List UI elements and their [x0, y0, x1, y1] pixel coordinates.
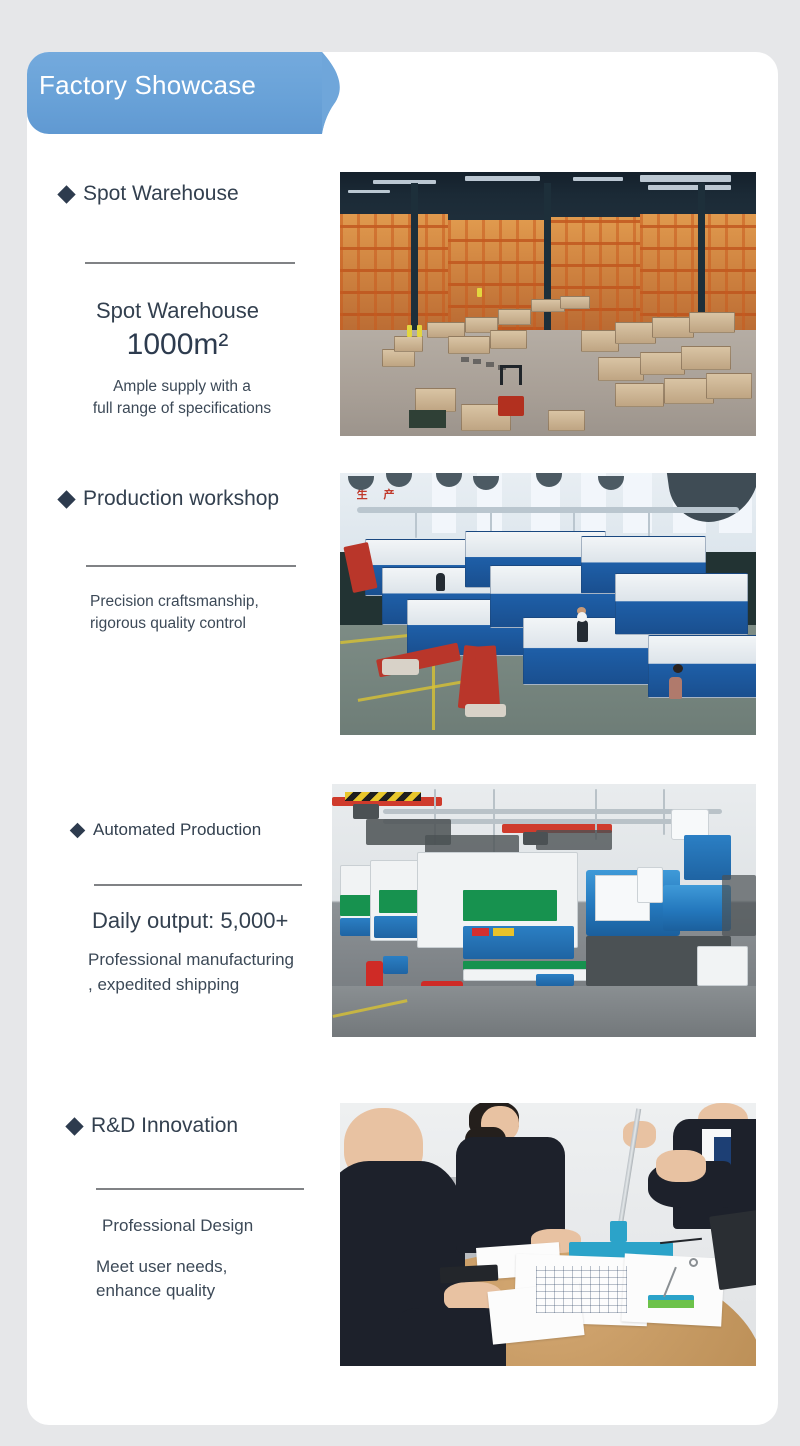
factory-showcase-page: Factory Showcase Spot Warehouse Spot War… — [0, 0, 800, 1446]
header-tab: Factory Showcase — [27, 52, 337, 134]
section-description: Ample supply with a full range of specif… — [60, 376, 304, 421]
section-divider — [96, 1188, 304, 1190]
section-metric: 1000m² — [60, 328, 295, 362]
section-heading: Spot Warehouse — [83, 182, 239, 206]
section-production-workshop-text: Production workshop Precision craftsmans… — [60, 487, 340, 636]
description-line: rigorous quality control — [90, 613, 320, 635]
section-heading-row: R&D Innovation — [68, 1114, 338, 1138]
section-divider — [85, 262, 295, 264]
section-heading-row: Production workshop — [60, 487, 340, 511]
description-line: Ample supply with a — [60, 376, 304, 398]
section-heading: Production workshop — [83, 487, 279, 511]
section-description: Professional manufacturing , expedited s… — [88, 948, 338, 997]
page-title: Factory Showcase — [39, 70, 256, 101]
production-workshop-photo: 生 产 — [340, 473, 756, 735]
description-line: Precision craftsmanship, — [90, 591, 320, 613]
section-headline: Daily output: 5,000+ — [92, 908, 340, 934]
section-description: Precision craftsmanship, rigorous qualit… — [90, 591, 320, 636]
description-line: Meet user needs, — [96, 1255, 326, 1280]
section-heading-row: Automated Production — [72, 820, 340, 840]
description-line: enhance quality — [96, 1279, 326, 1304]
spot-warehouse-photo — [340, 172, 756, 436]
section-spot-warehouse-text: Spot Warehouse Spot Warehouse 1000m² Amp… — [60, 182, 320, 421]
automated-production-photo — [332, 784, 756, 1037]
header-tab-curve — [322, 52, 382, 134]
section-rd-innovation-text: R&D Innovation Professional Design Meet … — [68, 1114, 338, 1304]
description-line: , expedited shipping — [88, 973, 338, 998]
section-subheading: Professional Design — [102, 1214, 338, 1239]
description-line: Professional manufacturing — [88, 948, 338, 973]
section-heading-row: Spot Warehouse — [60, 182, 320, 206]
section-heading: Automated Production — [93, 820, 261, 840]
section-divider — [94, 884, 302, 886]
section-description: Meet user needs, enhance quality — [96, 1255, 326, 1304]
section-headline: Spot Warehouse — [60, 298, 295, 324]
rd-innovation-photo — [340, 1103, 756, 1366]
section-heading: R&D Innovation — [91, 1114, 238, 1138]
section-divider — [86, 565, 296, 567]
diamond-icon — [57, 185, 75, 203]
diamond-icon — [70, 822, 86, 838]
section-automated-production-text: Automated Production Daily output: 5,000… — [72, 820, 340, 997]
diamond-icon — [65, 1117, 83, 1135]
description-line: full range of specifications — [60, 398, 304, 420]
diamond-icon — [57, 490, 75, 508]
